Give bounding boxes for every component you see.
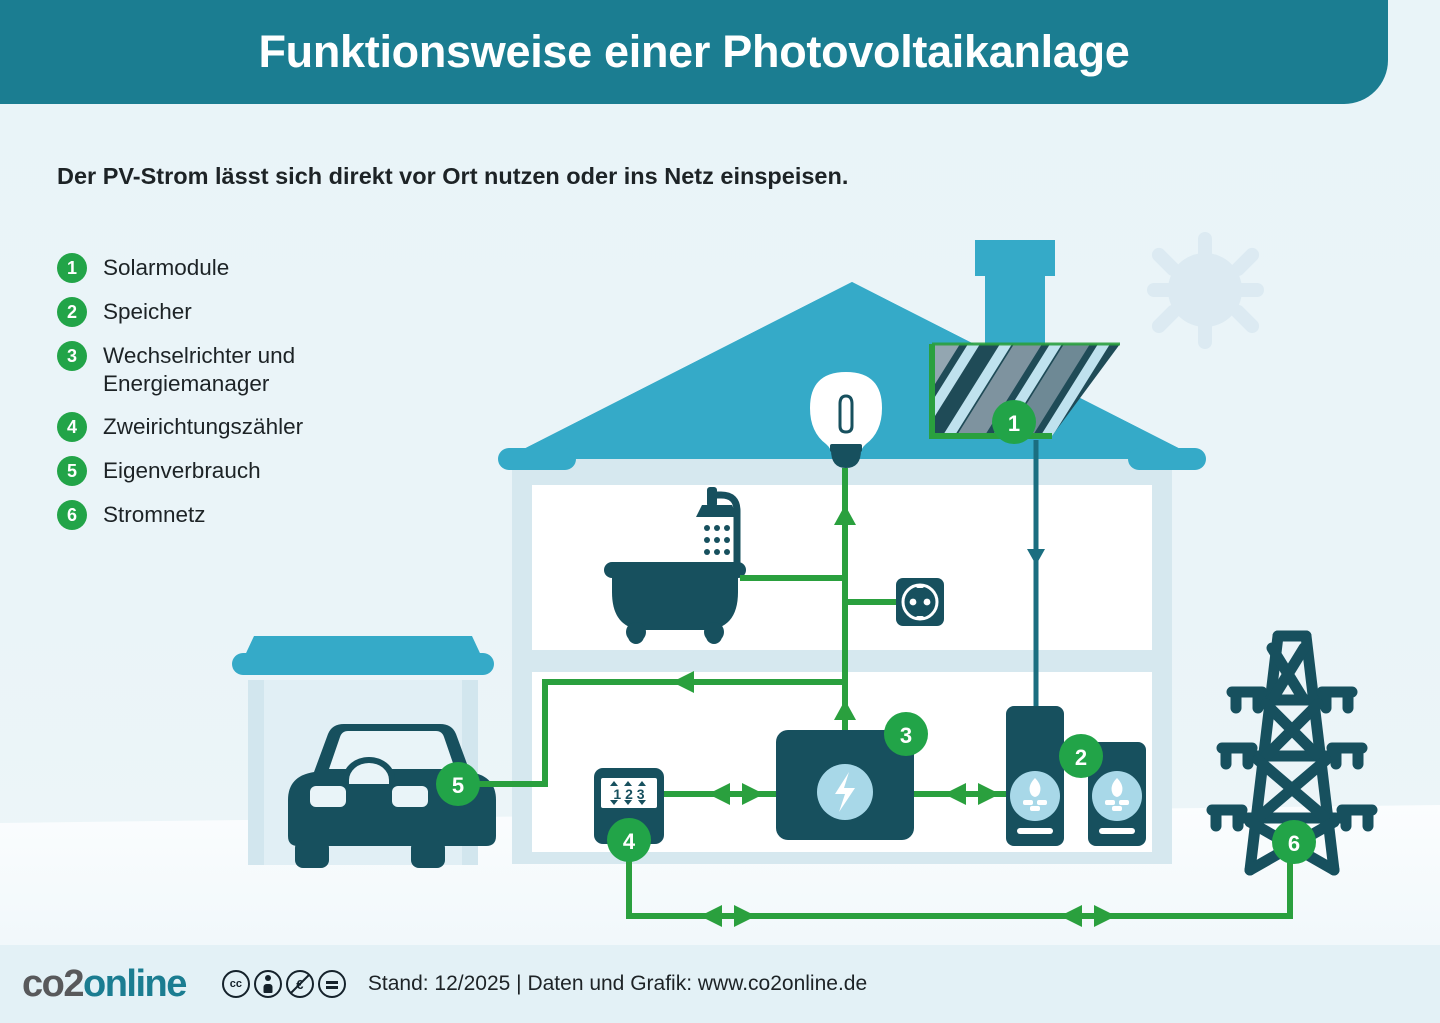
logo-part-online: online	[83, 963, 186, 1005]
legend-badge-4: 4	[57, 412, 87, 442]
cc-icon: cc	[222, 970, 250, 998]
legend-label-2: Speicher	[103, 297, 192, 326]
legend-label-3-line2: Energiemanager	[103, 371, 269, 396]
creative-commons-icons: cc €	[222, 970, 346, 998]
equals-glyph	[326, 981, 338, 983]
power-socket-icon	[896, 578, 944, 626]
legend-label-4: Zweirichtungszähler	[103, 412, 303, 441]
cc-nd-equals-icon	[318, 970, 346, 998]
diagram-badge-2-label: 2	[1075, 745, 1087, 770]
legend-label-6: Stromnetz	[103, 500, 206, 529]
subtitle: Der PV-Strom lässt sich direkt vor Ort n…	[57, 163, 848, 190]
diagram-badge-5[interactable]: 5	[436, 762, 480, 806]
legend-item-stromnetz[interactable]: 6 Stromnetz	[57, 500, 457, 530]
person-head	[265, 975, 271, 981]
diagram-badge-1-label: 1	[1008, 411, 1020, 436]
legend-badge-2: 2	[57, 297, 87, 327]
cc-icon-label: cc	[230, 978, 242, 990]
diagram-badge-4-label: 4	[623, 829, 636, 854]
cc-by-person-icon	[254, 970, 282, 998]
footer-bar: co2online cc € Stand: 12/2025 | Daten un…	[0, 945, 1440, 1023]
legend-label-5: Eigenverbrauch	[103, 456, 261, 485]
legend-item-wechselrichter[interactable]: 3 Wechselrichter und Energiemanager	[57, 341, 457, 398]
diagram-badge-2[interactable]: 2	[1059, 734, 1103, 778]
diagram-badge-6[interactable]: 6	[1272, 820, 1316, 864]
legend-badge-1: 1	[57, 253, 87, 283]
diagram-badge-3-label: 3	[900, 723, 912, 748]
sun-icon	[1147, 232, 1264, 349]
title-banner: Funktionsweise einer Photovoltaikanlage	[0, 0, 1388, 104]
legend-badge-6: 6	[57, 500, 87, 530]
meter-display: 1 2 3	[613, 786, 644, 802]
legend-label-3-line1: Wechselrichter und	[103, 343, 295, 368]
diagram-badge-1[interactable]: 1	[992, 400, 1036, 444]
legend-badge-5: 5	[57, 456, 87, 486]
legend-item-eigenverbrauch[interactable]: 5 Eigenverbrauch	[57, 456, 457, 486]
legend-item-solarmodule[interactable]: 1 Solarmodule	[57, 253, 457, 283]
co2online-logo[interactable]: co2online	[22, 965, 186, 1003]
legend-list: 1 Solarmodule 2 Speicher 3 Wechselrichte…	[57, 253, 457, 544]
diagram-badge-6-label: 6	[1288, 831, 1300, 856]
diagram-badge-3[interactable]: 3	[884, 712, 928, 756]
diagram-badge-4[interactable]: 4	[607, 818, 651, 862]
page-title: Funktionsweise einer Photovoltaikanlage	[258, 26, 1129, 78]
person-body	[263, 984, 272, 993]
legend-item-speicher[interactable]: 2 Speicher	[57, 297, 457, 327]
cc-nc-euro-crossed-icon: €	[286, 970, 314, 998]
logo-part-co2: co2	[22, 963, 83, 1005]
legend-item-zweirichtungszaehler[interactable]: 4 Zweirichtungszähler	[57, 412, 457, 442]
footer-source-text: Stand: 12/2025 | Daten und Grafik: www.c…	[368, 972, 867, 996]
legend-label-1: Solarmodule	[103, 253, 229, 282]
diagram-badge-5-label: 5	[452, 773, 464, 798]
legend-badge-3: 3	[57, 341, 87, 371]
legend-label-3: Wechselrichter und Energiemanager	[103, 341, 295, 398]
